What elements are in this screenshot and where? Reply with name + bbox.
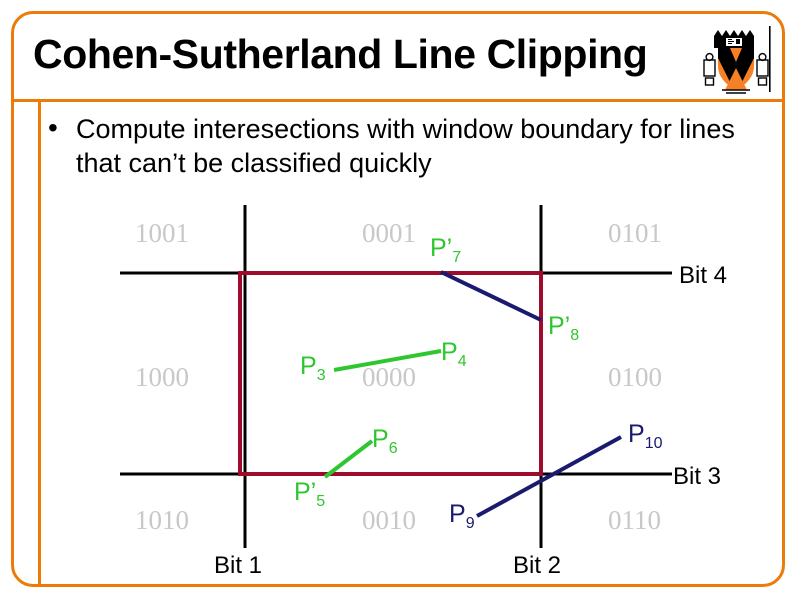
point-label-base: P xyxy=(449,500,466,528)
point-label-p9: P9 xyxy=(449,500,475,529)
segment-p9-p10 xyxy=(477,437,621,516)
point-label-base: P xyxy=(372,425,389,453)
point-label-subscript: 8 xyxy=(570,327,579,344)
point-label-p4: P4 xyxy=(441,338,467,367)
point-label-p7: P’7 xyxy=(430,234,461,263)
point-label-p10: P10 xyxy=(628,420,662,449)
point-label-subscript: 4 xyxy=(458,353,467,370)
region-code-1010: 1010 xyxy=(135,505,189,536)
region-code-0000: 0000 xyxy=(362,362,416,393)
point-label-base: P xyxy=(441,338,458,366)
region-code-0010: 0010 xyxy=(362,505,416,536)
region-code-0110: 0110 xyxy=(608,505,661,536)
point-label-subscript: 5 xyxy=(316,493,325,510)
point-label-subscript: 7 xyxy=(452,249,461,266)
bit-label-bit-4: Bit 4 xyxy=(679,262,727,290)
region-code-0001: 0001 xyxy=(362,218,416,249)
region-code-1000: 1000 xyxy=(135,362,189,393)
point-label-subscript: 3 xyxy=(317,367,326,384)
bit-label-bit-3: Bit 3 xyxy=(673,463,721,491)
bit-label-bit-2: Bit 2 xyxy=(513,552,561,580)
point-label-p6: P6 xyxy=(372,425,398,454)
point-label-base: P xyxy=(628,420,645,448)
point-label-base: P xyxy=(300,352,317,380)
point-label-subscript: 10 xyxy=(645,435,663,452)
point-label-base: P’ xyxy=(430,234,452,262)
bit-label-bit-1: Bit 1 xyxy=(214,552,262,580)
line-segments-layer xyxy=(325,272,621,516)
point-label-base: P’ xyxy=(294,478,316,506)
region-code-0100: 0100 xyxy=(608,362,662,393)
point-label-p5: P’5 xyxy=(294,478,325,507)
point-label-subscript: 6 xyxy=(389,440,398,457)
point-label-base: P’ xyxy=(548,312,570,340)
point-label-p8: P’8 xyxy=(548,312,579,341)
region-code-1001: 1001 xyxy=(135,218,189,249)
segment-p5-p6 xyxy=(325,441,372,477)
region-code-0101: 0101 xyxy=(608,218,662,249)
point-label-p3: P3 xyxy=(300,352,326,381)
segment-p7-p8 xyxy=(441,272,541,320)
point-label-subscript: 9 xyxy=(466,515,475,532)
slide-canvas: Cohen-Sutherland Line Clipping xyxy=(0,0,800,600)
